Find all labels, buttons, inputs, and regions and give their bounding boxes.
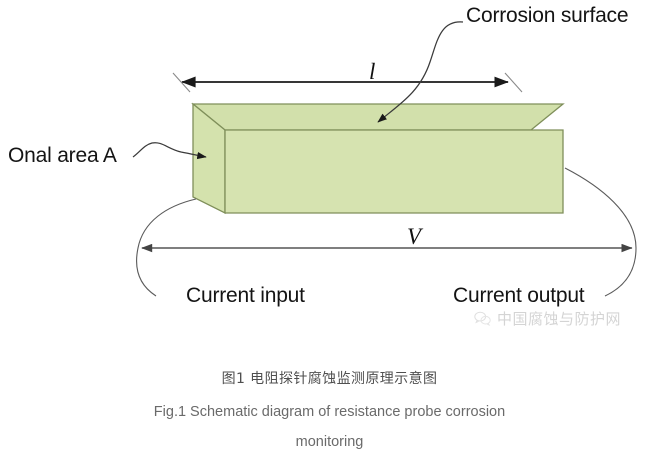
figure-container: Corrosion surface Onal area A Current in… — [0, 0, 659, 453]
caption-chinese: 图1 电阻探针腐蚀监测原理示意图 — [0, 368, 659, 388]
caption-english-line-2: monitoring — [0, 434, 659, 450]
caption-english-line-1: Fig.1 Schematic diagram of resistance pr… — [0, 404, 659, 420]
probe-box-3d — [193, 104, 563, 213]
label-current-input: Current input — [186, 285, 305, 306]
label-current-output: Current output — [453, 285, 584, 306]
label-onal-area: Onal area A — [8, 145, 117, 166]
wechat-logo-icon — [474, 311, 491, 326]
label-length-symbol: l — [369, 60, 375, 83]
probe-box-top-face — [193, 104, 563, 130]
length-dimension-arrow — [173, 73, 522, 92]
current-output-curve — [565, 168, 636, 296]
label-corrosion-surface: Corrosion surface — [466, 5, 628, 26]
watermark-text: 中国腐蚀与防护网 — [497, 308, 621, 329]
figure-caption: 图1 电阻探针腐蚀监测原理示意图 Fig.1 Schematic diagram… — [0, 368, 659, 450]
probe-box-front-face — [225, 130, 563, 213]
label-voltage-symbol: V — [407, 225, 421, 248]
watermark: 中国腐蚀与防护网 — [474, 308, 621, 329]
